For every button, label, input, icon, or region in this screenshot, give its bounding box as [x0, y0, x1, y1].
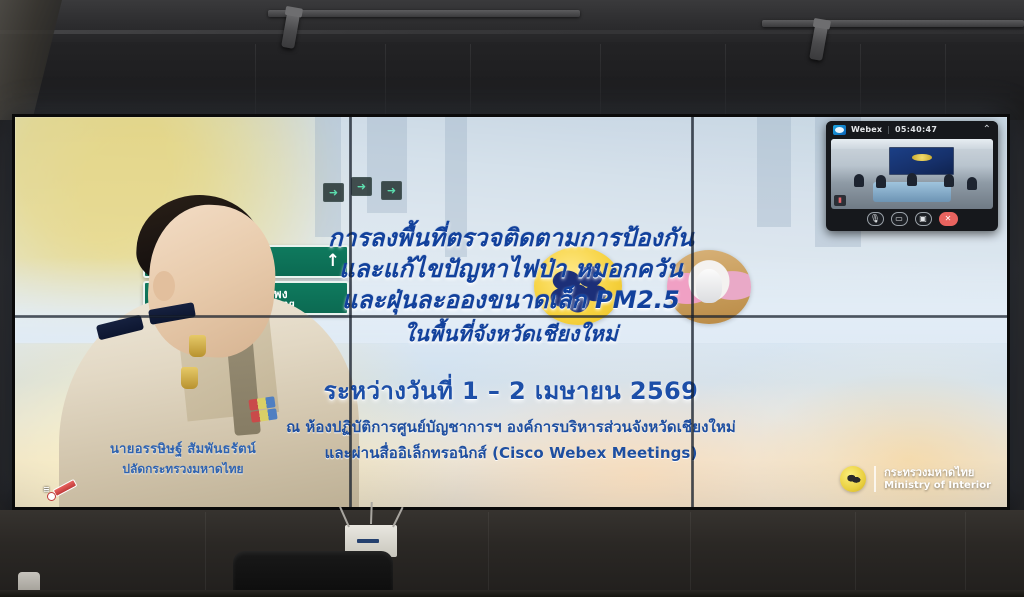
webex-logo-icon — [833, 125, 846, 135]
wall-panel-seam — [488, 512, 489, 597]
slide-date-line: ระหว่างวันที่ 1 – 2 เมษายน 2569 — [15, 371, 1007, 410]
pen-tip — [47, 492, 56, 501]
webex-video-feed[interactable]: ▮ — [831, 139, 993, 209]
conference-room: ➜ ➜ ➜ อ. หางดง Hang Dong ↑ ← อ. สันกำแพง… — [0, 0, 1024, 597]
remote-participant — [907, 173, 917, 186]
wall-panel-seam — [690, 512, 691, 597]
wall-panel-seam — [255, 44, 256, 120]
ministry-seal-icon — [840, 466, 866, 492]
microphone-button[interactable]: 🎙 — [867, 212, 884, 226]
wall-panel-seam — [855, 512, 856, 597]
light-track — [762, 20, 1024, 27]
ministry-name-english: Ministry of Interior — [884, 480, 991, 492]
ministry-name-thai: กระทรวงมหาดไทย — [884, 467, 991, 480]
video-wall-bezel-vertical — [349, 117, 352, 507]
remote-room-flag-icon: ▮ — [834, 195, 846, 206]
wall-panel-seam — [385, 44, 386, 120]
remote-participant — [876, 175, 886, 188]
lower-wall — [0, 510, 1024, 597]
pen-annotation-icon[interactable]: ≡ — [43, 483, 79, 501]
webex-panel[interactable]: Webex | 05:40:47 ⌃ ▮ 🎙 — [826, 121, 998, 231]
remote-participant — [944, 174, 954, 187]
wall-panel-seam — [470, 44, 471, 120]
slide-subtitle: ในพื้นที่จังหวัดเชียงใหม่ — [15, 321, 1007, 348]
video-wall-screen: ➜ ➜ ➜ อ. หางดง Hang Dong ↑ ← อ. สันกำแพง… — [15, 117, 1007, 507]
video-wall[interactable]: ➜ ➜ ➜ อ. หางดง Hang Dong ↑ ← อ. สันกำแพง… — [12, 114, 1010, 510]
video-wall-bezel-horizontal — [15, 315, 1007, 318]
speaker-title: ปลัดกระทรวงมหาดไทย — [33, 460, 333, 479]
video-wall-bezel-vertical — [691, 117, 694, 507]
remote-room-display — [889, 147, 954, 175]
router-indicator — [357, 539, 379, 543]
webex-meeting-timer: 05:40:47 — [895, 125, 937, 134]
conference-table-edge — [0, 590, 1024, 597]
wall-panel-seam — [860, 44, 861, 120]
wall-panel-seam — [205, 512, 206, 597]
leave-meeting-button[interactable]: ✕ — [939, 212, 958, 226]
webex-separator: | — [887, 125, 890, 134]
light-track — [268, 10, 580, 17]
slide-title-block: การลงพื้นที่ตรวจติดตามการป้องกัน และแก้ไ… — [15, 223, 1007, 348]
camera-button[interactable]: ▭ — [891, 212, 908, 226]
chevron-up-icon[interactable]: ⌃ — [983, 125, 991, 135]
ceiling-edge — [0, 30, 1024, 34]
slide-venue-line: ณ ห้องปฏิบัติการศูนย์บัญชาการฯ องค์การบร… — [15, 415, 1007, 439]
building-silhouette — [757, 117, 791, 227]
slide-title-line-2: และแก้ไขปัญหาไฟป่า หมอกควัน — [15, 254, 1007, 285]
divider — [874, 466, 876, 492]
upper-wall-panels — [0, 42, 1024, 120]
slide-title-line-3: และฝุ่นละอองขนาดเล็ก PM2.5 — [15, 285, 1007, 316]
wall-panel-seam — [945, 44, 946, 120]
speaker-nameplate: นายอรรษิษฐ์ สัมพันธรัตน์ ปลัดกระทรวงมหาด… — [33, 438, 333, 479]
wall-panel-seam — [725, 44, 726, 120]
webex-app-label: Webex — [851, 125, 882, 134]
speaker-name: นายอรรษิษฐ์ สัมพันธรัตน์ — [33, 438, 333, 459]
remote-participant — [967, 177, 977, 190]
share-screen-button[interactable]: ▣ — [915, 212, 932, 226]
webex-header[interactable]: Webex | 05:40:47 ⌃ — [826, 121, 998, 138]
wall-panel-seam — [600, 44, 601, 120]
webex-controls-bar: 🎙 ▭ ▣ ✕ — [826, 209, 998, 229]
ministry-logo-lockup: กระทรวงมหาดไทย Ministry of Interior — [840, 466, 991, 492]
wall-panel-seam — [965, 512, 966, 597]
traffic-light-icon: ➜ — [381, 181, 402, 200]
remote-participant — [854, 174, 864, 187]
